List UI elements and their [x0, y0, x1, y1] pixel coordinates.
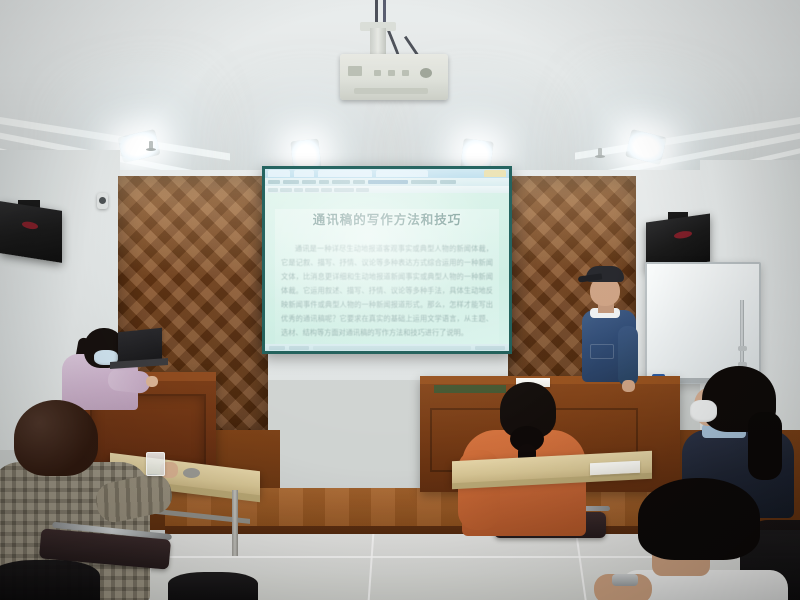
- person-presenter: [578, 266, 644, 394]
- document-status-bar: [265, 344, 509, 351]
- document-ribbon-row: [265, 178, 509, 186]
- ribbon-chip-9[interactable]: [440, 180, 456, 184]
- document-page: 通讯稿的写作方法和技巧 通讯是一种详尽生动地报道客观事实或典型人物的新闻体裁，它…: [275, 209, 499, 351]
- floor-grout-4: [575, 534, 586, 600]
- ribbon2-chip-4[interactable]: [305, 188, 319, 192]
- document-tab-1[interactable]: [294, 170, 314, 177]
- navy-attendee-ponytail: [748, 412, 782, 480]
- pole-clip-1: [738, 346, 747, 351]
- projector-lens: [420, 68, 432, 78]
- ceiling-projector: [340, 54, 448, 100]
- document-tab-bar: [265, 169, 509, 178]
- silhouette-mid-left: [168, 572, 258, 600]
- ribbon2-chip-5[interactable]: [321, 188, 332, 192]
- foreground-desk-left-leg: [232, 490, 238, 556]
- projector-vent-4: [402, 70, 409, 76]
- status-chip-1: [269, 346, 285, 350]
- wall-speaker-left: [0, 201, 62, 263]
- plaid-attendee-hair: [14, 400, 98, 476]
- slide-title: 通讯稿的写作方法和技巧: [275, 209, 499, 228]
- drinking-glass[interactable]: [146, 452, 165, 476]
- white-shirt-attendee-hair: [638, 478, 760, 560]
- document-tab-spacer: [432, 170, 480, 177]
- projector-vent-1: [348, 66, 362, 76]
- status-chip-3: [313, 346, 471, 350]
- ribbon-chip-6[interactable]: [353, 180, 365, 184]
- status-zoom-slider[interactable]: [475, 346, 505, 350]
- presenter-hand: [622, 380, 635, 392]
- ribbon-chip-3[interactable]: [302, 180, 316, 184]
- security-camera: [97, 193, 108, 209]
- projector-vent-2: [374, 70, 381, 76]
- ribbon2-chip-6[interactable]: [334, 188, 354, 192]
- ribbon2-chip-2[interactable]: [280, 188, 292, 192]
- ribbon2-chip-1[interactable]: [268, 188, 278, 192]
- projection-screen: 通讯稿的写作方法和技巧 通讯是一种详尽生动地报道客观事实或典型人物的新闻体裁，它…: [262, 166, 512, 354]
- document-tab-0[interactable]: [268, 170, 290, 177]
- classroom-scene-photo: 通讯稿的写作方法和技巧 通讯是一种详尽生动地报道客观事实或典型人物的新闻体裁，它…: [0, 0, 800, 600]
- speaker-logo-right: [674, 230, 692, 240]
- ribbon-chip-5[interactable]: [332, 180, 350, 184]
- ribbon-chip-8[interactable]: [411, 180, 437, 184]
- ribbon-chip-4[interactable]: [319, 180, 329, 184]
- navy-attendee-face-mask: [690, 400, 717, 422]
- ribbon-chip-2[interactable]: [283, 180, 299, 184]
- sprinkler-head-left: [149, 141, 153, 150]
- document-account-chip[interactable]: [484, 170, 506, 177]
- slide-body-text: 通讯是一种详尽生动地报道客观事实或典型人物的新闻体裁，它是记叙、描写、抒情、议论…: [281, 242, 493, 340]
- person-attendee-white-shirt: [600, 478, 800, 600]
- sprinkler-head-right: [598, 148, 602, 157]
- speaker-logo-left: [22, 221, 38, 231]
- podium-operator-arm: [107, 368, 151, 394]
- status-chip-2: [289, 346, 309, 350]
- ribbon-chip-7[interactable]: [368, 180, 408, 184]
- document-tab-2[interactable]: [318, 170, 372, 177]
- wristwatch: [612, 574, 638, 586]
- presenter-arm: [618, 326, 638, 386]
- ribbon2-chip-3[interactable]: [294, 188, 303, 192]
- silhouette-far-left: [0, 560, 100, 600]
- presenter-jacket-pocket: [590, 344, 614, 359]
- projector-vent-3: [388, 70, 395, 76]
- document-ribbon-row-2: [265, 186, 509, 193]
- floor-grout-3: [368, 534, 375, 600]
- podium-operator-hand: [146, 376, 158, 387]
- projected-document: 通讯稿的写作方法和技巧 通讯是一种详尽生动地报道客观事实或典型人物的新闻体裁，它…: [265, 169, 509, 351]
- ribbon-chip-1[interactable]: [268, 180, 280, 184]
- ribbon2-chip-7[interactable]: [356, 188, 369, 192]
- cup-lid[interactable]: [183, 468, 200, 478]
- document-tab-3[interactable]: [376, 170, 428, 177]
